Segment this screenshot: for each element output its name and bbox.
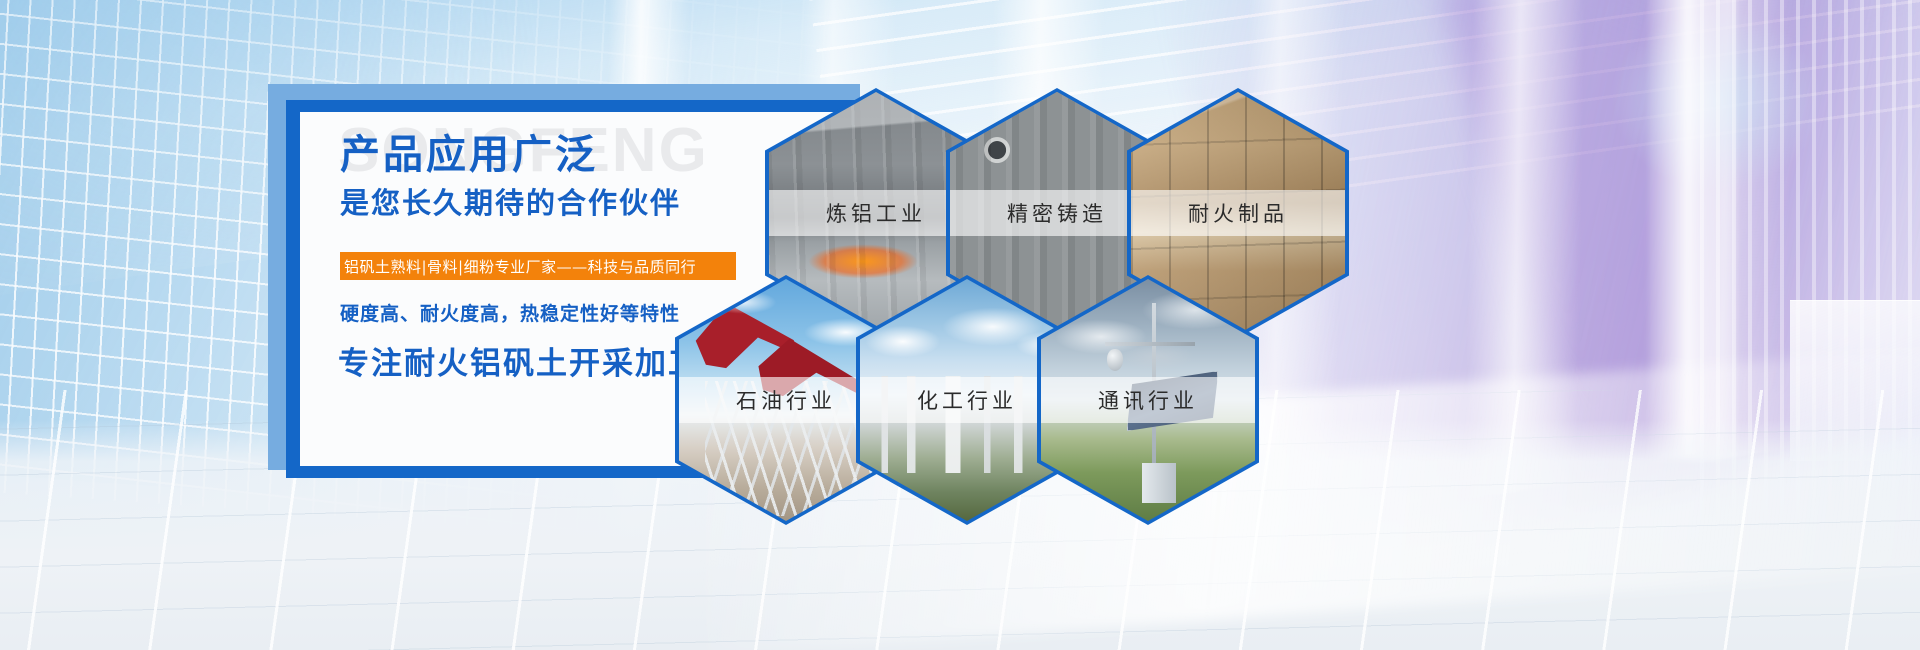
tagline-text: 铝矾土熟料|骨料|细粉专业厂家——科技与品质同行	[340, 256, 696, 277]
hex-label: 通讯行业	[1041, 377, 1255, 423]
subheadline: 是您长久期待的合作伙伴	[340, 190, 681, 219]
equipment-cabinet	[1142, 463, 1176, 503]
hex-label: 耐火制品	[1131, 190, 1345, 236]
mast-arm	[1105, 342, 1195, 346]
tagline-bar: 铝矾土熟料|骨料|细粉专业厂家——科技与品质同行	[340, 252, 736, 280]
promo-banner: SONGFENG 产品应用广泛 是您长久期待的合作伙伴 铝矾土熟料|骨料|细粉专…	[0, 0, 1920, 650]
headline: 产品应用广泛	[340, 135, 598, 175]
slogan: 专注耐火铝矾土开采加工	[338, 348, 701, 379]
camera-dome	[1107, 349, 1123, 371]
feature-line: 硬度高、耐火度高，热稳定性好等特性	[340, 305, 680, 324]
